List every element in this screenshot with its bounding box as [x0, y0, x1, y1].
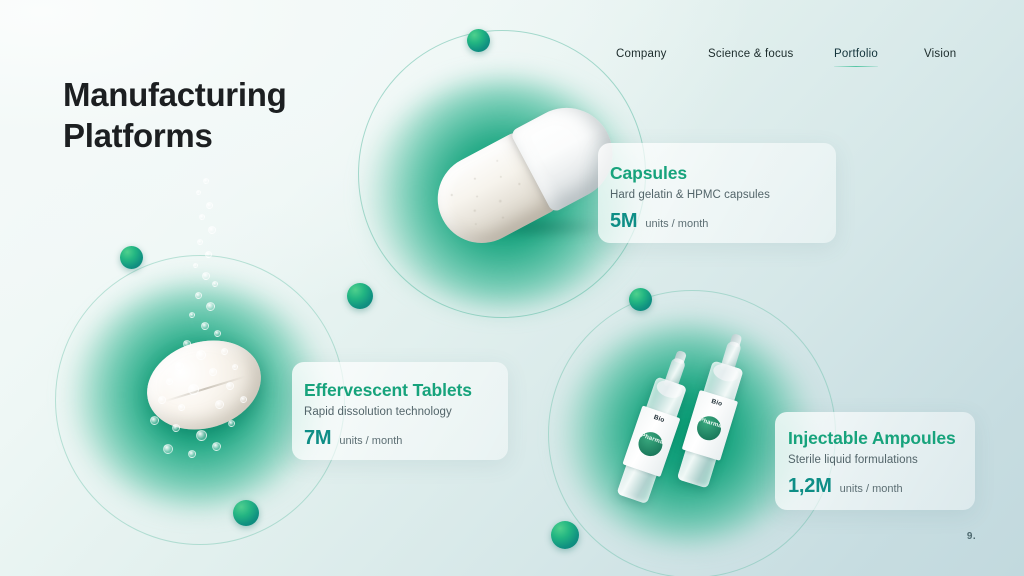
- nav-item-label: Science & focus: [708, 48, 793, 60]
- page-title-line1: Manufacturing: [63, 76, 286, 113]
- card-effervescent-tablets[interactable]: Effervescent Tablets Rapid dissolution t…: [292, 362, 508, 460]
- card-capsules[interactable]: Capsules Hard gelatin & HPMC capsules 5M…: [598, 143, 836, 243]
- card-metric: 1,2M units / month: [788, 475, 961, 498]
- card-metric: 7M units / month: [304, 427, 494, 450]
- nav-item-label: Company: [616, 48, 667, 60]
- product-tablet: [140, 330, 270, 440]
- card-metric: 5M units / month: [610, 210, 818, 233]
- metric-unit: units / month: [840, 483, 903, 495]
- page-title-line2: Platforms: [63, 115, 393, 156]
- page-number: 9.: [967, 531, 976, 542]
- orbit-node-ampoules-bottomleft: [551, 521, 579, 549]
- orbit-node-tablets-bottom: [233, 500, 259, 526]
- nav-item-portfolio[interactable]: Portfolio: [834, 48, 878, 60]
- ampoule-label: Bio Pharma: [682, 390, 738, 461]
- card-subtitle: Hard gelatin & HPMC capsules: [610, 189, 818, 201]
- metric-value: 5M: [610, 210, 637, 233]
- nav-item-label: Vision: [924, 48, 956, 60]
- orbit-node-capsules-bottom: [347, 283, 373, 309]
- nav-item-science-focus[interactable]: Science & focus: [708, 48, 793, 60]
- metric-unit: units / month: [339, 435, 402, 447]
- slide-canvas: Bio Pharma Bio Pharma Capsules Hard gela…: [0, 0, 1024, 576]
- page-title: Manufacturing Platforms: [63, 74, 393, 156]
- product-capsule: [432, 118, 624, 243]
- tablet-shape: [136, 327, 272, 443]
- ampoule-label: Bio Pharma: [622, 405, 680, 477]
- card-heading: Capsules: [610, 163, 818, 184]
- orbit-node-capsules-top: [467, 29, 490, 52]
- orbit-node-tablets-topleft: [120, 246, 143, 269]
- nav-active-underline: [834, 66, 878, 68]
- card-subtitle: Sterile liquid formulations: [788, 454, 961, 466]
- orbit-node-ampoules-top: [629, 288, 652, 311]
- metric-unit: units / month: [645, 218, 708, 230]
- top-navigation: Company Science & focus Portfolio Vision: [600, 48, 1000, 74]
- metric-value: 1,2M: [788, 475, 832, 498]
- nav-item-label: Portfolio: [834, 48, 878, 60]
- card-heading: Injectable Ampoules: [788, 428, 961, 449]
- nav-item-company[interactable]: Company: [616, 48, 667, 60]
- card-subtitle: Rapid dissolution technology: [304, 406, 494, 418]
- metric-value: 7M: [304, 427, 331, 450]
- card-injectable-ampoules[interactable]: Injectable Ampoules Sterile liquid formu…: [775, 412, 975, 510]
- card-heading: Effervescent Tablets: [304, 380, 494, 401]
- nav-item-vision[interactable]: Vision: [924, 48, 956, 60]
- tablet-score-line: [165, 376, 245, 402]
